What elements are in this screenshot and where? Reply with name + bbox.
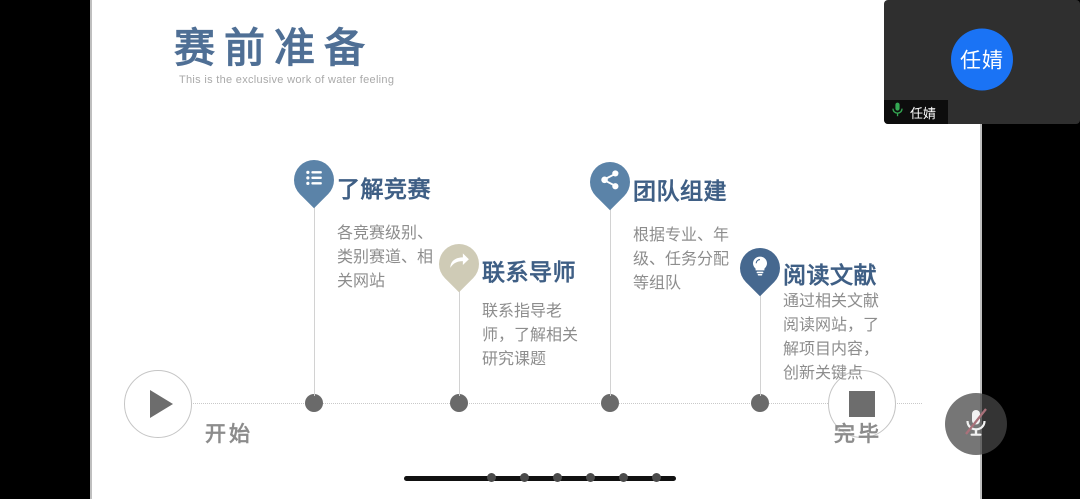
timeline-node-dot	[601, 394, 619, 412]
participant-video-tile[interactable]: 任婧 任婧	[884, 0, 1080, 124]
milestone-desc: 各竞赛级别、类别赛道、相关网站	[337, 222, 435, 294]
shared-slide[interactable]: 赛前准备 This is the exclusive work of water…	[90, 0, 982, 499]
mute-button[interactable]	[945, 393, 1007, 455]
milestone-desc: 联系指导老师，了解相关研究课题	[482, 300, 580, 372]
timeline-node-dot	[305, 394, 323, 412]
stop-icon	[849, 391, 875, 417]
timeline-start-marker	[124, 370, 192, 438]
play-icon	[150, 390, 173, 418]
page-dot[interactable]	[586, 473, 595, 482]
page-dot[interactable]	[553, 473, 562, 482]
page-title: 赛前准备	[174, 14, 374, 74]
lightbulb-icon	[732, 240, 789, 297]
timeline-end-label: 完毕	[834, 418, 882, 448]
timeline-stem	[459, 290, 460, 396]
milestone-title: 阅读文献	[783, 256, 877, 290]
milestone-desc: 根据专业、年级、任务分配等组队	[633, 224, 731, 296]
video-call-screen: 赛前准备 This is the exclusive work of water…	[0, 0, 1080, 499]
participant-name: 任婧	[910, 103, 936, 122]
timeline-axis	[162, 403, 922, 404]
page-dot[interactable]	[619, 473, 628, 482]
timeline-stem	[610, 208, 611, 396]
page-subtitle: This is the exclusive work of water feel…	[179, 74, 394, 86]
timeline-node-dot	[450, 394, 468, 412]
avatar: 任婧	[951, 29, 1013, 91]
timeline-stem	[314, 206, 315, 396]
microphone-muted-icon	[961, 406, 991, 443]
timeline-node-dot	[751, 394, 769, 412]
timeline-start-label: 开始	[205, 418, 253, 448]
milestone-title: 了解竞赛	[337, 170, 431, 204]
participant-name-bar: 任婧	[884, 100, 948, 124]
timeline-stem	[760, 294, 761, 396]
list-icon	[286, 152, 343, 209]
milestone-desc: 通过相关文献阅读网站，了解项目内容，创新关键点	[783, 290, 881, 386]
scrollbar[interactable]	[404, 476, 676, 481]
reply-arrow-icon	[431, 236, 488, 293]
page-dot[interactable]	[487, 473, 496, 482]
share-icon	[582, 154, 639, 211]
page-dot[interactable]	[520, 473, 529, 482]
milestone-title: 团队组建	[633, 172, 727, 206]
milestone-title: 联系导师	[482, 253, 576, 287]
page-indicator[interactable]	[0, 471, 1080, 485]
page-dot[interactable]	[652, 473, 661, 482]
microphone-icon	[892, 102, 903, 122]
